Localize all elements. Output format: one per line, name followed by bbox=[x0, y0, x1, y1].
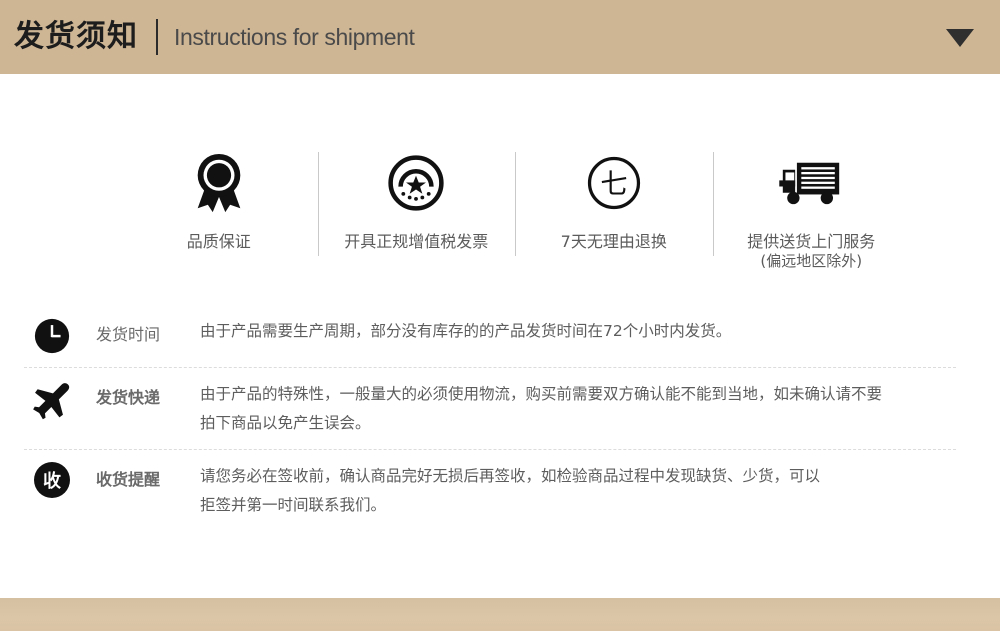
feature-item-delivery: 提供送货上门服务 (偏远地区除外) bbox=[713, 150, 911, 271]
airplane-icon bbox=[24, 378, 80, 420]
feature-list: 品质保证 开具正规增值税发票 bbox=[120, 150, 910, 280]
feature-item-quality: 品质保证 bbox=[120, 150, 318, 252]
info-row-title: 发货快递 bbox=[80, 378, 200, 408]
delivery-truck-icon bbox=[774, 150, 848, 216]
info-row-text: 由于产品需要生产周期，部分没有库存的的产品发货时间在72个小时内发货。 bbox=[200, 315, 956, 346]
info-row-shipping-time: 发货时间 由于产品需要生产周期，部分没有库存的的产品发货时间在72个小时内发货。 bbox=[24, 305, 956, 367]
shipment-instructions-page: 发货须知 Instructions for shipment 品质保证 bbox=[0, 0, 1000, 631]
feature-label: 开具正规增值税发票 bbox=[344, 232, 488, 252]
info-row-line: 拍下商品以免产生误会。 bbox=[200, 409, 956, 438]
svg-text:七: 七 bbox=[600, 169, 627, 200]
info-row-line: 请您务必在签收前，确认商品完好无损后再签收，如检验商品过程中发现缺货、少货，可以 bbox=[200, 462, 956, 491]
seven-day-return-circle-icon: 七 bbox=[585, 150, 643, 216]
feature-item-invoice: 开具正规增值税发票 bbox=[318, 150, 516, 252]
info-row-text: 由于产品的特殊性，一般量大的必须使用物流，购买前需要双方确认能不能到当地，如未确… bbox=[200, 378, 956, 437]
receive-badge-glyph: 收 bbox=[34, 462, 70, 498]
page-subtitle: Instructions for shipment bbox=[174, 24, 415, 51]
info-row-text: 请您务必在签收前，确认商品完好无损后再签收，如检验商品过程中发现缺货、少货，可以… bbox=[200, 460, 956, 519]
medal-ribbon-icon bbox=[188, 150, 250, 216]
info-row-title: 发货时间 bbox=[80, 315, 200, 345]
info-row-receiving-reminder: 收 收货提醒 请您务必在签收前，确认商品完好无损后再签收，如检验商品过程中发现缺… bbox=[24, 449, 956, 531]
info-row-line: 由于产品需要生产周期，部分没有库存的的产品发货时间在72个小时内发货。 bbox=[200, 317, 956, 346]
info-row-title: 收货提醒 bbox=[80, 460, 200, 490]
page-header: 发货须知 Instructions for shipment bbox=[0, 0, 1000, 74]
info-row-shipping-courier: 发货快递 由于产品的特殊性，一般量大的必须使用物流，购买前需要双方确认能不能到当… bbox=[24, 367, 956, 449]
header-title-group: 发货须知 Instructions for shipment bbox=[14, 0, 415, 74]
header-title-separator bbox=[156, 19, 158, 55]
info-row-line: 拒签并第一时间联系我们。 bbox=[200, 491, 956, 520]
info-row-list: 发货时间 由于产品需要生产周期，部分没有库存的的产品发货时间在72个小时内发货。… bbox=[24, 305, 956, 532]
feature-label: 7天无理由退换 bbox=[561, 232, 667, 252]
feature-label: 提供送货上门服务 (偏远地区除外) bbox=[747, 232, 875, 271]
feature-item-return: 七 7天无理由退换 bbox=[515, 150, 713, 252]
clock-icon bbox=[24, 315, 80, 355]
page-title: 发货须知 bbox=[14, 22, 138, 52]
feature-label: 品质保证 bbox=[187, 232, 251, 252]
triangle-down-icon[interactable] bbox=[946, 29, 974, 47]
feature-sub-label: (偏远地区除外) bbox=[747, 252, 875, 271]
info-row-line: 由于产品的特殊性，一般量大的必须使用物流，购买前需要双方确认能不能到当地，如未确… bbox=[200, 380, 956, 409]
footer-bar bbox=[0, 598, 1000, 631]
invoice-seal-star-icon bbox=[387, 150, 445, 216]
receive-badge-icon: 收 bbox=[24, 460, 80, 498]
